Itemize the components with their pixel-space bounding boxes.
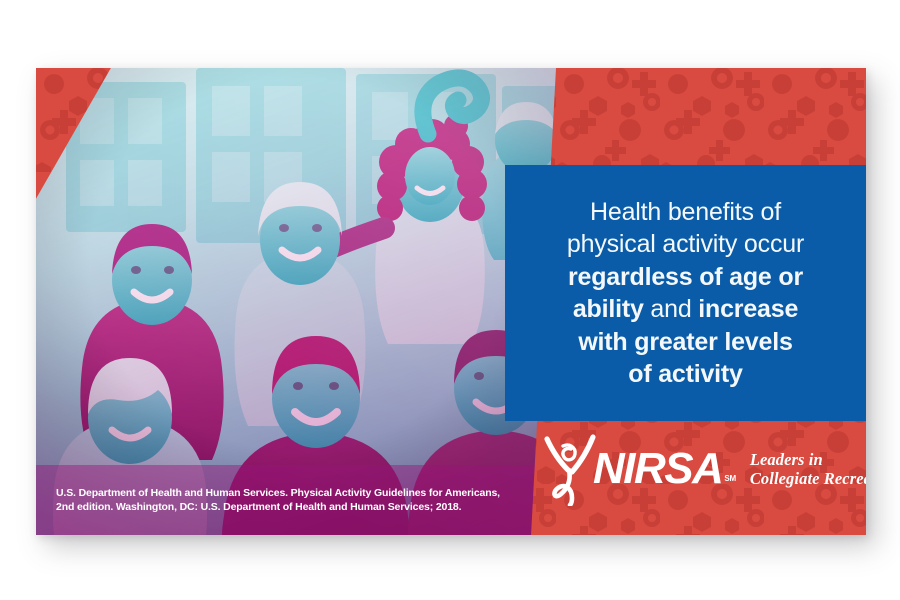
poster-canvas: U.S. Department of Health and Human Serv… xyxy=(0,0,900,600)
hero-photo: U.S. Department of Health and Human Serv… xyxy=(36,68,556,535)
nirsa-y-figure-icon xyxy=(541,432,599,506)
duotone-highlight-layer xyxy=(36,68,556,535)
quote-run: Health benefits of xyxy=(590,198,781,226)
quote-line-3: regardless of age or xyxy=(567,261,804,294)
quote-run: physical activity occur xyxy=(567,230,804,258)
logo-tagline: Leaders in Collegiate Recreation xyxy=(750,450,866,489)
nirsa-wordmark: NIRSA xyxy=(593,450,722,488)
citation-text: U.S. Department of Health and Human Serv… xyxy=(36,486,531,514)
quote-run: regardless of age or xyxy=(568,263,803,291)
quote-run: increase xyxy=(698,295,798,323)
quote-line-5: with greater levels xyxy=(567,326,804,359)
quote-line-6: of activity xyxy=(567,358,804,391)
quote-panel: Health benefits ofphysical activity occu… xyxy=(505,165,866,421)
service-mark: SM xyxy=(724,474,735,483)
poster-card: U.S. Department of Health and Human Serv… xyxy=(36,68,866,535)
hero-photo-image xyxy=(36,68,556,535)
quote-run: with greater levels xyxy=(578,328,792,356)
quote-run: ability xyxy=(573,295,644,323)
quote-line-4: ability and increase xyxy=(567,293,804,326)
quote-line-1: Health benefits of xyxy=(567,196,804,229)
logo-tagline-line2: Collegiate Recreation xyxy=(750,469,866,488)
logo-tagline-line1: Leaders in xyxy=(750,450,866,469)
citation-band: U.S. Department of Health and Human Serv… xyxy=(36,465,556,535)
nirsa-logo[interactable]: NIRSA SM Leaders in Collegiate Recreatio… xyxy=(541,430,866,508)
quote-run: and xyxy=(644,295,699,323)
nirsa-wordmark-group: NIRSA SM xyxy=(593,450,736,488)
quote-text: Health benefits ofphysical activity occu… xyxy=(567,196,804,391)
quote-line-2: physical activity occur xyxy=(567,228,804,261)
quote-run: of activity xyxy=(628,360,743,388)
